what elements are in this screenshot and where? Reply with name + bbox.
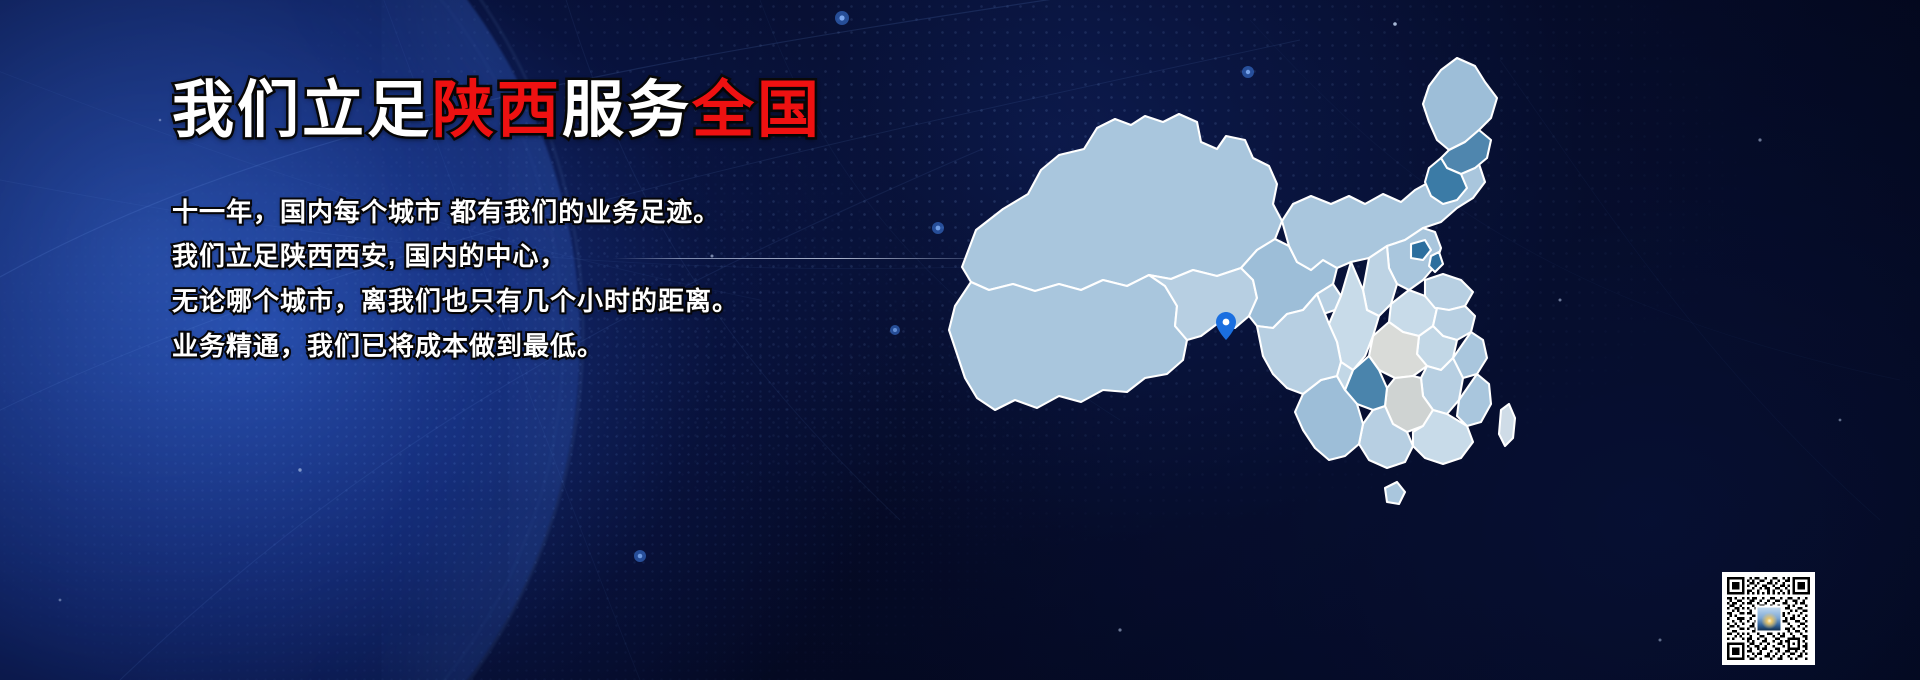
region-xinjiang[interactable] xyxy=(962,114,1282,291)
page-title: 我们立足陕西服务全国 xyxy=(172,78,932,144)
headline-segment-4-accent: 全国 xyxy=(692,76,822,145)
region-shandong[interactable] xyxy=(1425,274,1473,310)
body-copy: 十一年，国内每个城市 都有我们的业务足迹。 我们立足陕西西安, 国内的中心， 无… xyxy=(172,190,932,369)
china-map[interactable] xyxy=(845,18,1505,558)
headline-segment-1: 我们立足 xyxy=(172,76,432,145)
qr-code[interactable] xyxy=(1722,572,1815,665)
region-tianjin[interactable] xyxy=(1429,252,1443,272)
region-hainan[interactable] xyxy=(1385,482,1405,504)
headline-segment-3: 服务 xyxy=(562,76,692,145)
region-taiwan[interactable] xyxy=(1499,404,1515,446)
body-line-3: 无论哪个城市，离我们也只有几个小时的距离。 xyxy=(172,279,932,324)
banner-stage: 我们立足陕西服务全国 十一年，国内每个城市 都有我们的业务足迹。 我们立足陕西西… xyxy=(0,0,1920,680)
body-line-4: 业务精通，我们已将成本做到最低。 xyxy=(172,324,932,369)
map-pin-icon[interactable] xyxy=(1216,312,1236,340)
headline-segment-2-accent: 陕西 xyxy=(432,76,562,145)
region-xizang[interactable] xyxy=(949,275,1187,410)
body-line-2: 我们立足陕西西安, 国内的中心， xyxy=(172,234,932,279)
china-map-svg xyxy=(845,18,1505,558)
copy-block: 我们立足陕西服务全国 十一年，国内每个城市 都有我们的业务足迹。 我们立足陕西西… xyxy=(172,78,932,369)
qr-center-logo xyxy=(1755,605,1782,632)
body-line-1: 十一年，国内每个城市 都有我们的业务足迹。 xyxy=(172,190,932,235)
